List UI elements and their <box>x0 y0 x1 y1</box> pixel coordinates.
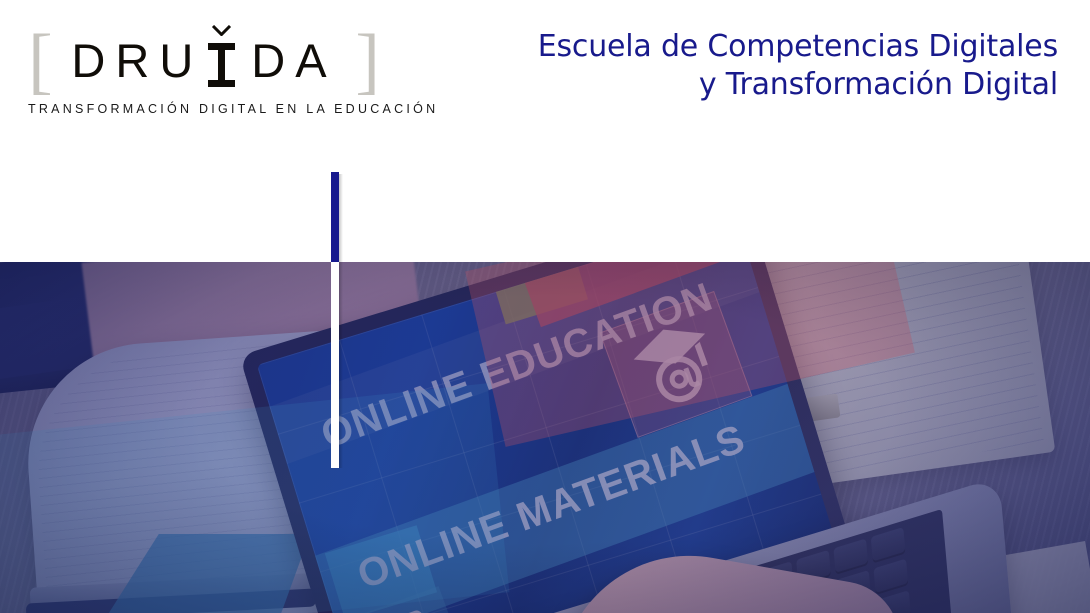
logo-wordmark: [ D R U D A ] <box>28 30 380 92</box>
logo-tagline: TRANSFORMACIÓN DIGITAL EN LA EDUCACIÓN <box>28 102 388 116</box>
page-root: [ D R U D A ] <box>0 0 1090 613</box>
vertical-accent-bar <box>331 172 339 468</box>
breve-accent-icon <box>211 25 232 36</box>
page-title: Escuela de Competencias Digitales y Tran… <box>538 28 1058 104</box>
accent-bar-navy-segment <box>331 172 339 262</box>
logo-letter-i-breve <box>203 35 241 87</box>
bracket-left-icon: [ <box>28 30 53 92</box>
logo-letters: D R U D A <box>55 35 354 87</box>
brand-logo[interactable]: [ D R U D A ] <box>28 30 388 116</box>
logo-letter-a: A <box>295 35 336 87</box>
logo-letter-d2: D <box>251 35 295 87</box>
hero-image: E LEARNING ONLINE EDUCATION ONLINE MATER… <box>0 262 1090 613</box>
page-title-line-1: Escuela de Competencias Digitales <box>538 28 1058 66</box>
logo-letter-d1: D <box>71 35 115 87</box>
page-title-line-2: y Transformación Digital <box>538 66 1058 104</box>
key <box>873 559 908 595</box>
logo-letter-r: R <box>115 35 159 87</box>
logo-letter-u: U <box>159 35 203 87</box>
key <box>833 538 868 574</box>
logo-i-serif-bottom <box>208 80 235 87</box>
accent-bar-white-segment <box>331 262 339 468</box>
accent-bar-shadow <box>339 174 343 468</box>
page-header: [ D R U D A ] <box>0 0 1090 262</box>
bracket-right-icon: ] <box>355 30 380 92</box>
key <box>871 527 906 563</box>
